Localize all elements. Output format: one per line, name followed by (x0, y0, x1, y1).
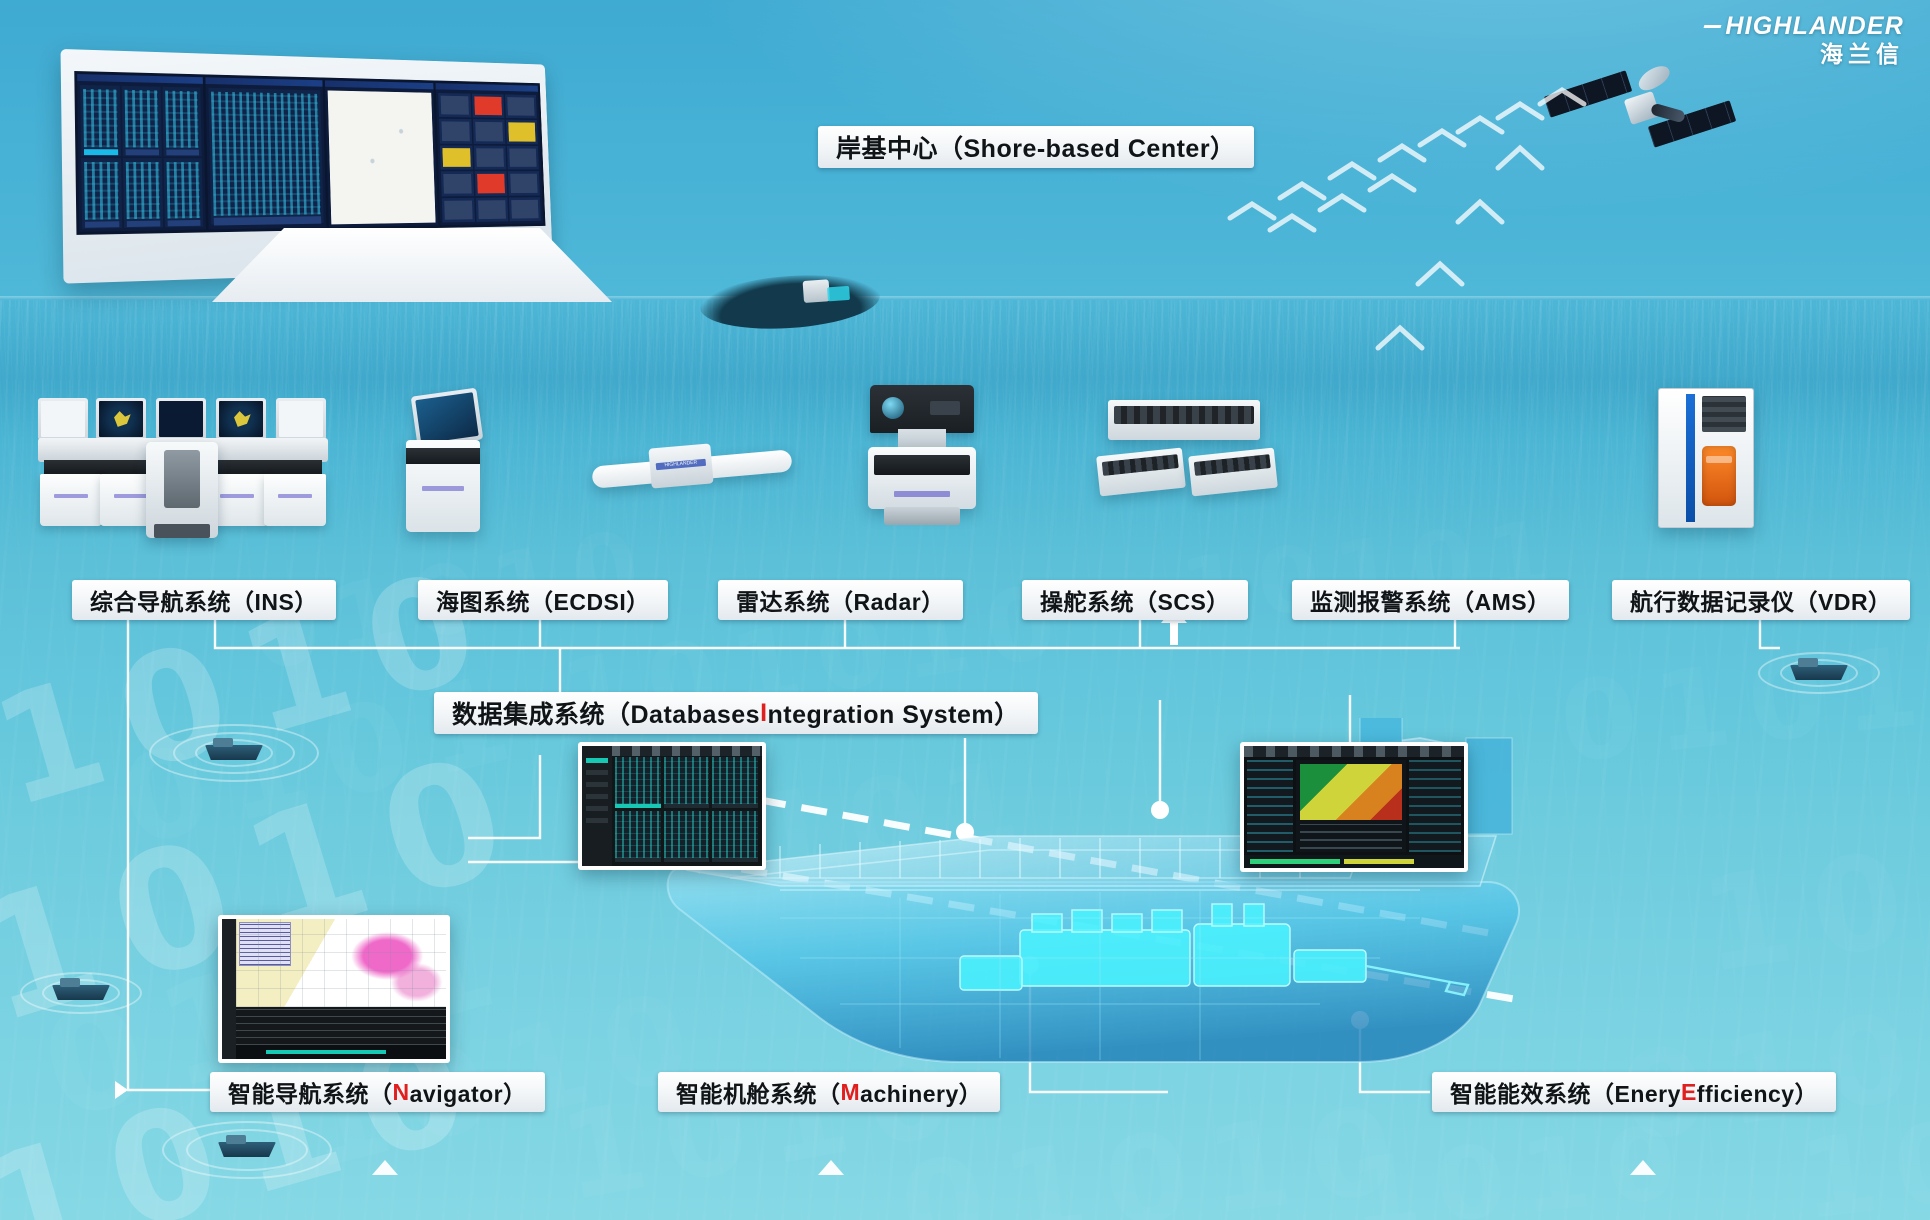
label-navigator[interactable]: 智能导航系统（Navigator） (210, 1072, 545, 1112)
surface-object (698, 270, 881, 334)
marker-triangle (818, 1160, 844, 1175)
label-ecdis[interactable]: 海图系统（ECDSI） (418, 580, 668, 620)
device-radar-antenna: HIGHLANDER (592, 440, 792, 504)
screenshot-machinery[interactable] (578, 742, 766, 870)
logo-tick-icon (1704, 25, 1722, 28)
screenshot-navigator[interactable] (218, 915, 450, 1063)
ee-prefix: 智能能效系统（Enery (1450, 1075, 1681, 1109)
small-boat (1790, 665, 1848, 680)
small-boat (218, 1142, 276, 1157)
logo-text-en: HIGHLANDER (1704, 14, 1904, 39)
dis-highlight: I (760, 699, 767, 728)
label-radar[interactable]: 雷达系统（Radar） (718, 580, 963, 620)
satellite-icon (1545, 55, 1735, 165)
nav-highlight: N (393, 1079, 410, 1106)
screenshot-energy-efficiency[interactable] (1240, 742, 1468, 872)
device-ecdis-kiosk (398, 392, 490, 532)
mach-prefix: 智能机舱系统（ (676, 1075, 841, 1109)
device-alarm-monitoring-modules (1098, 400, 1278, 510)
label-vdr[interactable]: 航行数据记录仪（VDR） (1612, 580, 1910, 620)
device-voyage-data-recorder (1658, 388, 1754, 528)
label-shore-center[interactable]: 岸基中心（Shore-based Center） (818, 126, 1254, 168)
mach-suffix: achinery） (860, 1075, 982, 1109)
label-scs[interactable]: 操舵系统（SCS） (1022, 580, 1248, 620)
device-steering-console (862, 385, 982, 535)
device-bridge-navigation-console (38, 398, 328, 528)
label-ams[interactable]: 监测报警系统（AMS） (1292, 580, 1569, 620)
mach-highlight: M (841, 1079, 861, 1106)
small-boat (205, 745, 263, 760)
dis-suffix: ntegration System） (768, 695, 1020, 731)
infographic-canvas: 1010 0101 1010 0101 1010 1010 01010 1010… (0, 0, 1930, 1220)
marker-triangle (1630, 1160, 1656, 1175)
ee-suffix: fficiency） (1697, 1075, 1818, 1109)
nav-prefix: 智能导航系统（ (228, 1075, 393, 1109)
dis-prefix: 数据集成系统（Databases (452, 695, 760, 731)
label-energy-efficiency[interactable]: 智能能效系统（Enery Efficiency） (1432, 1072, 1836, 1112)
shore-center-video-wall (62, 48, 642, 283)
ee-highlight: E (1681, 1079, 1697, 1106)
label-ins[interactable]: 综合导航系统（INS） (72, 580, 336, 620)
nav-suffix: avigator） (410, 1075, 527, 1109)
label-data-integration-system[interactable]: 数据集成系统（Databases Integration System） (434, 692, 1038, 734)
small-boat (52, 985, 110, 1000)
marker-triangle (372, 1160, 398, 1175)
label-machinery[interactable]: 智能机舱系统（Machinery） (658, 1072, 1000, 1112)
